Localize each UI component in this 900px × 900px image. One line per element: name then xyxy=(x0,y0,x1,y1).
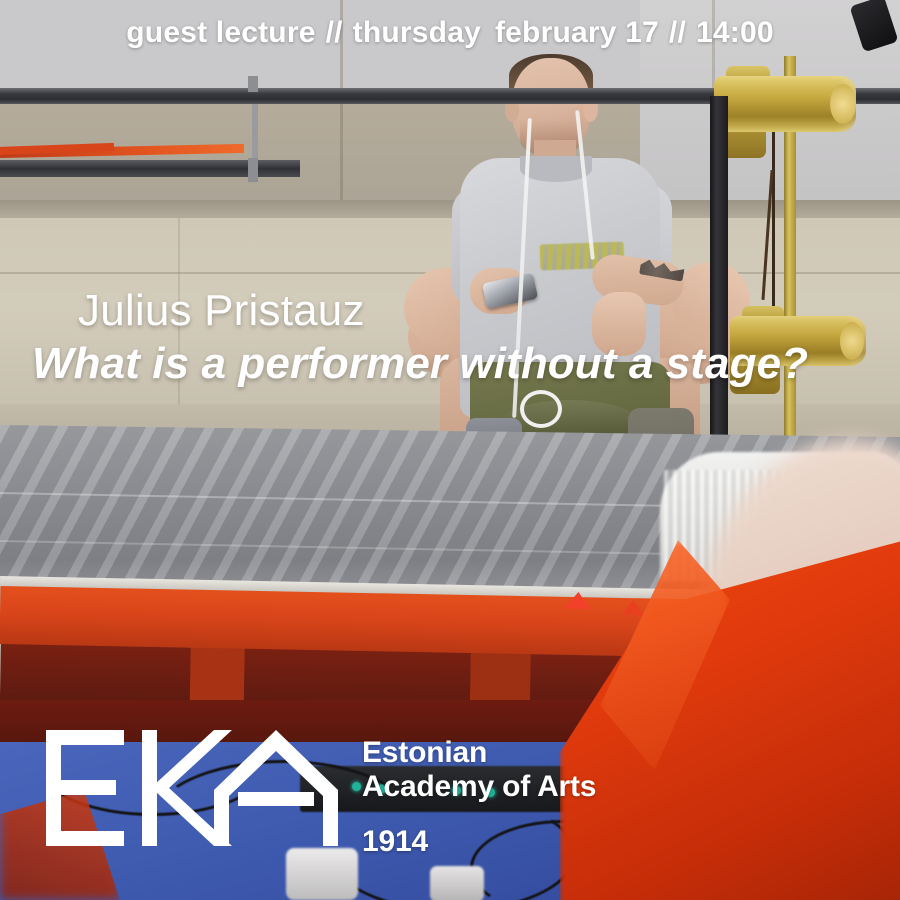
photo-bar-bolt xyxy=(248,158,258,182)
photo-white-plug xyxy=(430,866,484,900)
photo-bar-stem xyxy=(252,100,258,166)
event-poster: guest lecture//thursday february 17//14:… xyxy=(0,0,900,900)
eka-logo-lockup: Estonian Academy of Arts 1914 xyxy=(46,730,596,859)
eka-wordmark-icon xyxy=(46,730,338,846)
poster-title-block: Julius Pristauz What is a performer with… xyxy=(0,288,900,389)
eka-full-name: Estonian Academy of Arts 1914 xyxy=(362,730,596,859)
photo-bar-bolt xyxy=(248,76,258,92)
photo-floor-marker xyxy=(565,591,592,609)
photo-wall-seam xyxy=(340,0,343,230)
photo-lamp-aperture xyxy=(830,84,856,124)
eka-founding-year: 1914 xyxy=(362,825,596,859)
lecture-title: What is a performer without a stage? xyxy=(32,340,900,388)
eka-name-line-1: Estonian xyxy=(362,736,596,770)
speaker-name: Julius Pristauz xyxy=(78,288,900,334)
photo-floor-marker xyxy=(622,600,645,616)
photo-earbud-cord-loop xyxy=(520,390,562,428)
eka-name-line-2: Academy of Arts xyxy=(362,770,596,804)
